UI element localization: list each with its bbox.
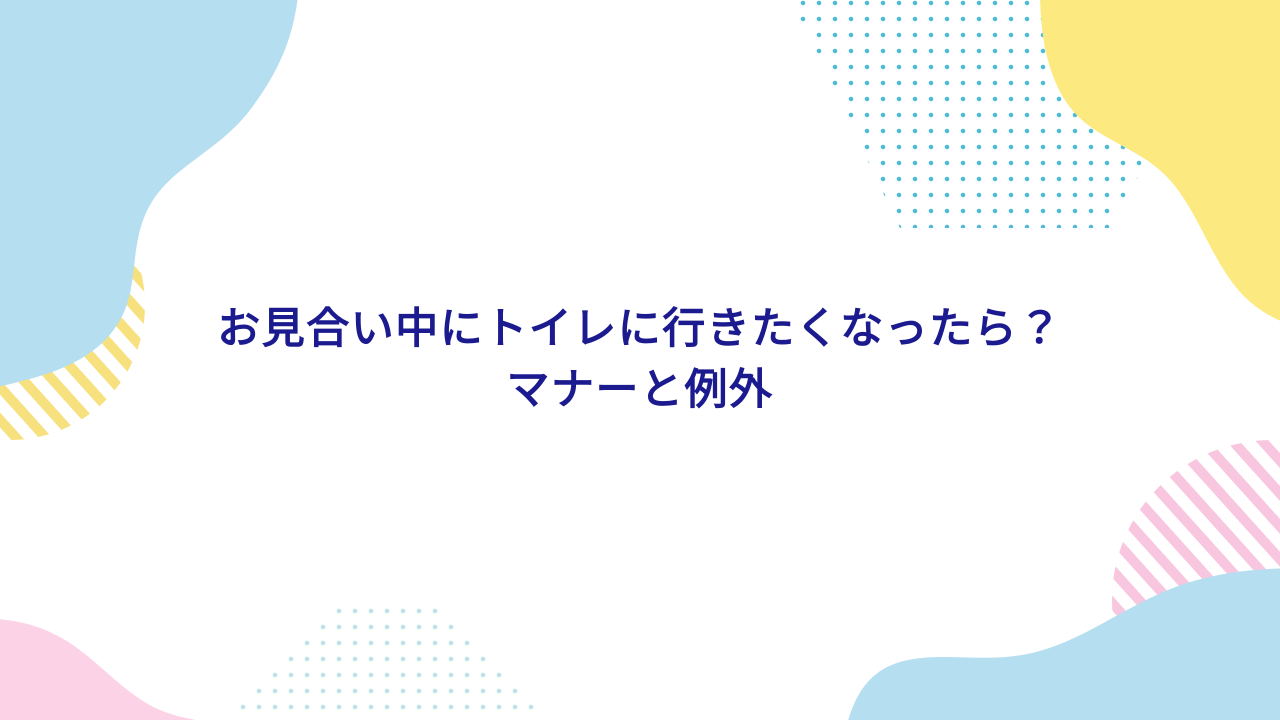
thumbnail-canvas: お見合い中にトイレに行きたくなったら？ マナーと例外 bbox=[0, 0, 1280, 720]
title-block: お見合い中にトイレに行きたくなったら？ マナーと例外 bbox=[0, 0, 1280, 720]
title-line-2: マナーと例外 bbox=[140, 360, 1140, 421]
title-line-1: お見合い中にトイレに行きたくなったら？ bbox=[140, 299, 1140, 360]
page-title: お見合い中にトイレに行きたくなったら？ マナーと例外 bbox=[140, 299, 1140, 421]
